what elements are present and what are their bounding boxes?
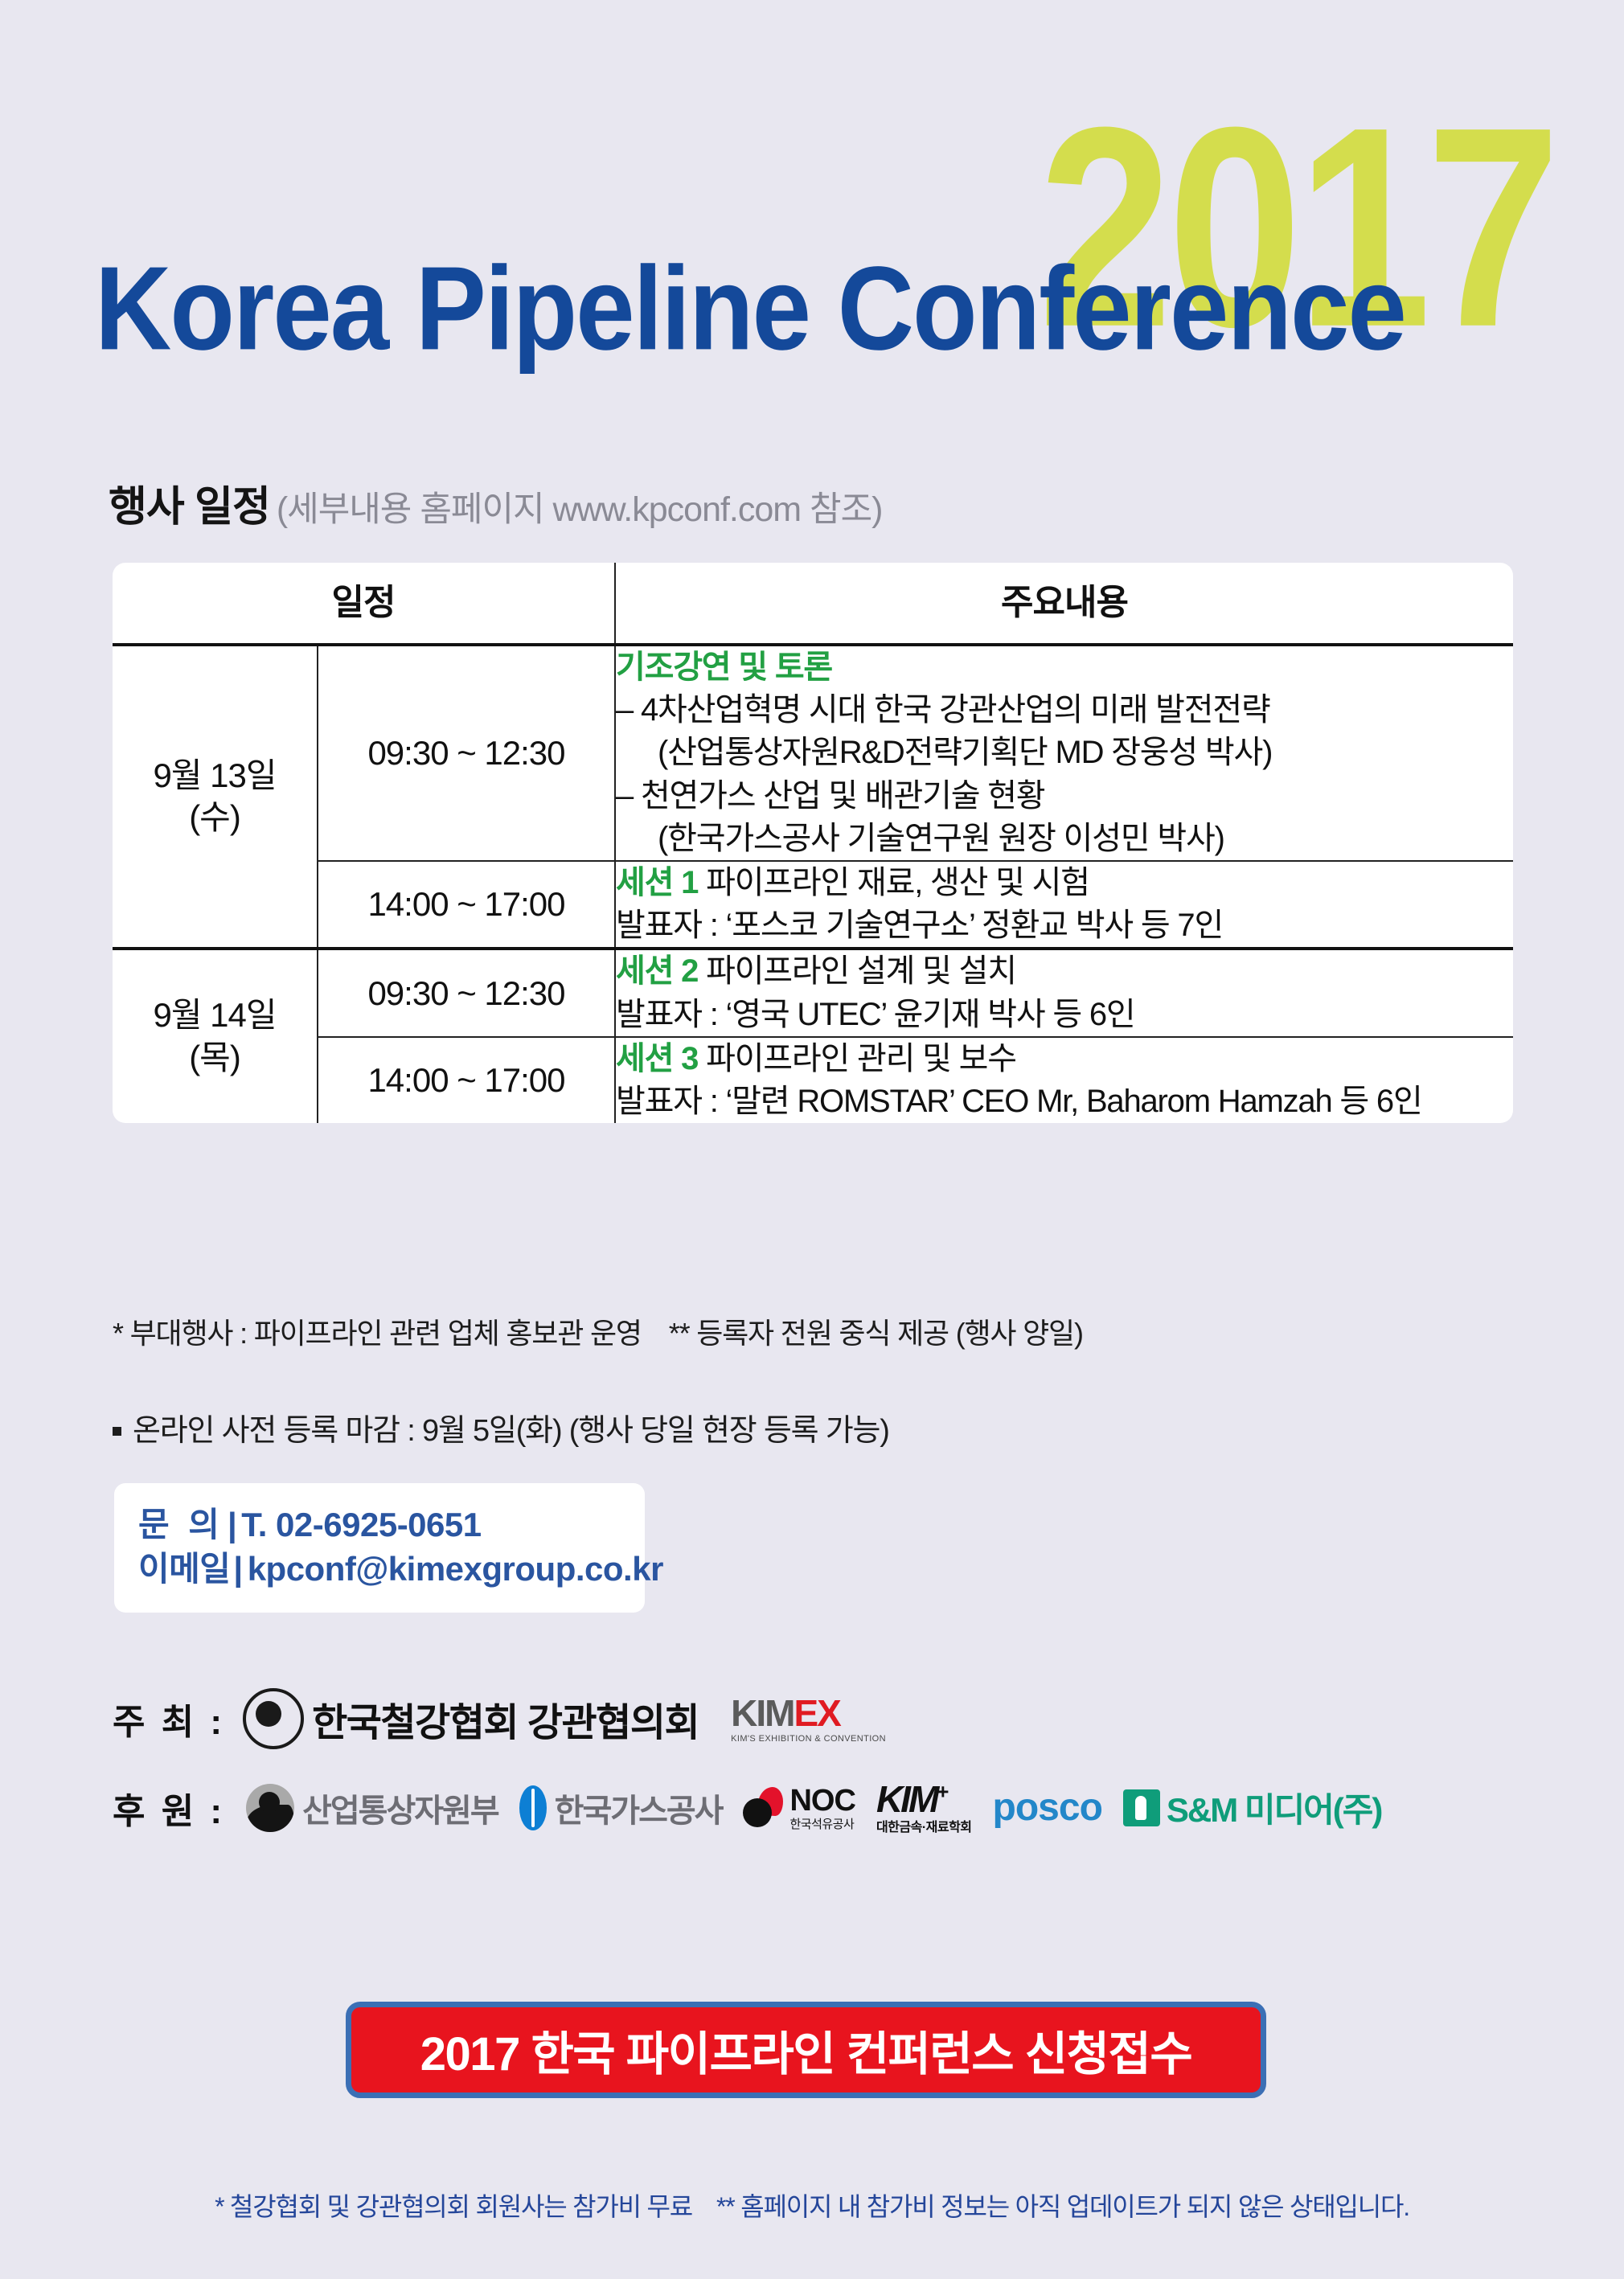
page-title: Korea Pipeline Conference bbox=[95, 249, 1405, 368]
cell-topic-1: 세션 1 파이프라인 재료, 생산 및 시험 발표자 : ‘포스코 기술연구소’… bbox=[615, 861, 1513, 949]
session-subtitle: 파이프라인 설계 및 설치 bbox=[706, 953, 1016, 989]
session-subtitle: 파이프라인 관리 및 보수 bbox=[706, 1041, 1016, 1076]
cell-topic-3: 세션 3 파이프라인 관리 및 보수 발표자 : ‘말련 ROMSTAR’ CE… bbox=[615, 1037, 1513, 1123]
cell-date-sep14: 9월 14일 (목) bbox=[113, 949, 318, 1123]
kim-main-text: KIM bbox=[876, 1778, 937, 1820]
contact-phone-row: 문 의|T. 02-6925-0651 bbox=[138, 1502, 621, 1547]
posco-logo-icon: posco bbox=[993, 1785, 1102, 1830]
organizers-label: 주 최 : bbox=[113, 1693, 225, 1744]
kosa-seal-icon bbox=[243, 1688, 304, 1749]
motie-taegeuk-icon bbox=[246, 1784, 294, 1832]
contact-phone-label: 문 의 bbox=[138, 1506, 224, 1543]
kimex-main-text: KIM bbox=[731, 1692, 794, 1734]
note-aux-meal: ** 등록자 전원 중식 제공 (행사 양일) bbox=[669, 1317, 1083, 1350]
schedule-table: 일정 주요내용 9월 13일 (수) 09:30 ~ 12:30 기조 bbox=[113, 563, 1513, 1123]
cell-topic-0: 기조강연 및 토론 – 4차산업혁명 시대 한국 강관산업의 미래 발전전략 (… bbox=[615, 645, 1513, 861]
note-registration-text: 온라인 사전 등록 마감 : 9월 5일(화) (행사 당일 현장 등록 가능) bbox=[133, 1414, 889, 1448]
contact-separator: | bbox=[228, 1506, 236, 1543]
kosa-name: 한국철강협회 강관협의회 bbox=[312, 1691, 699, 1747]
cell-time-1: 14:00 ~ 17:00 bbox=[318, 861, 615, 949]
topic-title-keynote: 기조강연 및 토론 bbox=[616, 646, 1513, 689]
logo-motie: 산업통상자원부 bbox=[246, 1784, 498, 1832]
kimex-wordmark: KIMEX bbox=[731, 1695, 886, 1732]
table-row: 14:00 ~ 17:00 세션 1 파이프라인 재료, 생산 및 시험 발표자… bbox=[113, 861, 1513, 949]
topic-line: (산업통상자원R&D전략기획단 MD 장웅성 박사) bbox=[616, 732, 1513, 774]
topic-line: (한국가스공사 기술연구원 원장 이성민 박사) bbox=[616, 818, 1513, 860]
cell-time-0: 09:30 ~ 12:30 bbox=[318, 645, 615, 861]
square-bullet-icon bbox=[113, 1427, 121, 1436]
contact-email-label: 이메일 bbox=[138, 1550, 230, 1588]
masthead: 2017 Korea Pipeline Conference bbox=[0, 0, 1624, 418]
contact-separator: | bbox=[233, 1550, 242, 1588]
registration-cta-button[interactable]: 2017 한국 파이프라인 컨퍼런스 신청접수 bbox=[346, 2002, 1266, 2098]
logo-knoc: NOC 한국석유공사 bbox=[743, 1785, 855, 1830]
topic-line: – 4차산업혁명 시대 한국 강관산업의 미래 발전전략 bbox=[616, 689, 1513, 732]
knoc-subname: 한국석유공사 bbox=[789, 1818, 855, 1830]
kogas-logo-icon bbox=[519, 1785, 547, 1830]
cell-time-2: 09:30 ~ 12:30 bbox=[318, 949, 615, 1036]
table-row: 14:00 ~ 17:00 세션 3 파이프라인 관리 및 보수 발표자 : ‘… bbox=[113, 1037, 1513, 1123]
knoc-name: NOC bbox=[789, 1785, 855, 1816]
kim-wordmark: KIM+ bbox=[876, 1781, 972, 1818]
note-aux-event: * 부대행사 : 파이프라인 관련 업체 홍보관 운영 bbox=[113, 1317, 642, 1350]
schedule-heading-subnote: (세부내용 홈페이지 www.kpconf.com 참조) bbox=[277, 490, 883, 529]
topic-line: 발표자 : ‘말련 ROMSTAR’ CEO Mr, Baharom Hamza… bbox=[616, 1080, 1513, 1123]
kimex-tagline: KIM'S EXHIBITION & CONVENTION bbox=[731, 1735, 886, 1744]
kimex-logo-icon: KIMEX KIM'S EXHIBITION & CONVENTION bbox=[731, 1695, 886, 1744]
kim-plus-mark: + bbox=[937, 1780, 946, 1804]
knoc-logo-icon bbox=[743, 1787, 785, 1829]
topic-line: 발표자 : ‘포스코 기술연구소’ 정환교 박사 등 7인 bbox=[616, 904, 1513, 947]
note-auxiliary-events: * 부대행사 : 파이프라인 관련 업체 홍보관 운영** 등록자 전원 중식 … bbox=[113, 1310, 1083, 1352]
cell-date-sep13: 9월 13일 (수) bbox=[113, 645, 318, 949]
cell-time-3: 14:00 ~ 17:00 bbox=[318, 1037, 615, 1123]
footer-note-update: ** 홈페이지 내 참가비 정보는 아직 업데이트가 되지 않은 상태입니다. bbox=[716, 2192, 1409, 2221]
sponsors-row: 후 원 : 산업통상자원부 한국가스공사 NOC 한국석유공사 KIM+ 대한금… bbox=[113, 1781, 1381, 1834]
contact-email-value[interactable]: kpconf@kimexgroup.co.kr bbox=[248, 1550, 663, 1588]
poster-root: 2017 Korea Pipeline Conference 행사 일정(세부내… bbox=[0, 0, 1624, 2279]
session-label: 세션 1 bbox=[616, 865, 698, 900]
footer-notes: * 철강협회 및 강관협의회 회원사는 참가비 무료** 홈페이지 내 참가비 … bbox=[0, 2187, 1624, 2224]
column-header-schedule: 일정 bbox=[113, 563, 615, 645]
cell-topic-2: 세션 2 파이프라인 설계 및 설치 발표자 : ‘영국 UTEC’ 윤기재 박… bbox=[615, 949, 1513, 1036]
contact-box: 문 의|T. 02-6925-0651 이메일|kpconf@kimexgrou… bbox=[114, 1483, 645, 1613]
topic-heading-session2: 세션 2 파이프라인 설계 및 설치 bbox=[616, 950, 1513, 993]
contact-phone-value[interactable]: T. 02-6925-0651 bbox=[241, 1506, 481, 1543]
footer-note-free: * 철강협회 및 강관협의회 회원사는 참가비 무료 bbox=[215, 2192, 692, 2221]
kimex-accent-text: EX bbox=[794, 1692, 840, 1734]
organizers-row: 주 최 : 한국철강협회 강관협의회 KIMEX KIM'S EXHIBITIO… bbox=[113, 1688, 886, 1749]
note-registration-deadline: 온라인 사전 등록 마감 : 9월 5일(화) (행사 당일 현장 등록 가능) bbox=[113, 1405, 889, 1449]
schedule-table-container: 일정 주요내용 9월 13일 (수) 09:30 ~ 12:30 기조 bbox=[113, 563, 1513, 1123]
motie-name: 산업통상자원부 bbox=[302, 1785, 498, 1831]
session-label: 세션 3 bbox=[616, 1041, 698, 1076]
logo-kogas: 한국가스공사 bbox=[519, 1785, 723, 1831]
smmedia-logo-icon bbox=[1123, 1789, 1160, 1826]
schedule-heading-label: 행사 일정 bbox=[109, 484, 270, 531]
table-row: 9월 13일 (수) 09:30 ~ 12:30 기조강연 및 토론 – 4차산… bbox=[113, 645, 1513, 861]
table-header-row: 일정 주요내용 bbox=[113, 563, 1513, 645]
session-label: 세션 2 bbox=[616, 953, 698, 989]
logo-smmedia: S&M 미디어(주) bbox=[1123, 1783, 1382, 1832]
knoc-text-block: NOC 한국석유공사 bbox=[789, 1785, 855, 1830]
session-subtitle: 파이프라인 재료, 생산 및 시험 bbox=[706, 865, 1089, 900]
topic-heading-session1: 세션 1 파이프라인 재료, 생산 및 시험 bbox=[616, 862, 1513, 904]
registration-cta-label: 2017 한국 파이프라인 컨퍼런스 신청접수 bbox=[420, 2016, 1191, 2084]
kim-logo-icon: KIM+ 대한금속·재료학회 bbox=[876, 1781, 972, 1834]
logo-kosa: 한국철강협회 강관협의회 bbox=[243, 1688, 699, 1749]
schedule-section-heading: 행사 일정(세부내용 홈페이지 www.kpconf.com 참조) bbox=[109, 486, 883, 528]
table-row: 9월 14일 (목) 09:30 ~ 12:30 세션 2 파이프라인 설계 및… bbox=[113, 949, 1513, 1036]
knoc-black-shape bbox=[743, 1798, 772, 1827]
topic-heading-session3: 세션 3 파이프라인 관리 및 보수 bbox=[616, 1038, 1513, 1080]
column-header-content: 주요내용 bbox=[615, 563, 1513, 645]
kogas-name: 한국가스공사 bbox=[555, 1785, 723, 1831]
sponsors-label: 후 원 : bbox=[113, 1782, 225, 1834]
smmedia-name: S&M 미디어(주) bbox=[1167, 1783, 1382, 1832]
topic-line: 발표자 : ‘영국 UTEC’ 윤기재 박사 등 6인 bbox=[616, 994, 1513, 1036]
kim-subname: 대한금속·재료학회 bbox=[876, 1822, 972, 1834]
contact-email-row: 이메일|kpconf@kimexgroup.co.kr bbox=[138, 1547, 621, 1591]
topic-line: – 천연가스 산업 및 배관기술 현황 bbox=[616, 775, 1513, 818]
